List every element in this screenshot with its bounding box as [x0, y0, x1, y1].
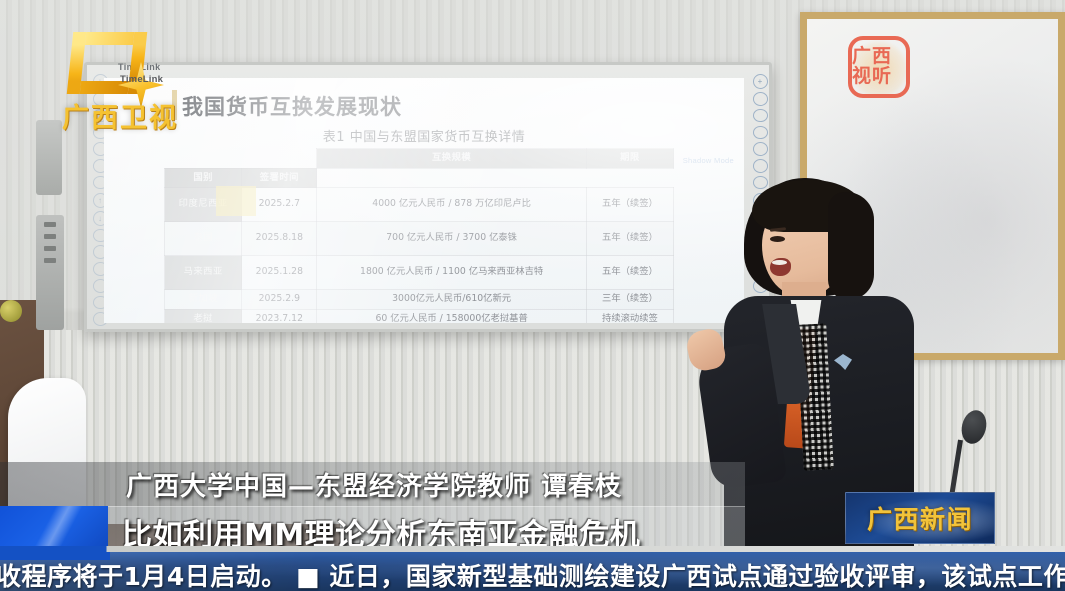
table-subheader-row: 国别 签署时间 [165, 168, 674, 188]
cell-term: 五年（续签） [586, 222, 673, 256]
news-program-badge: 广西新闻 [845, 492, 995, 544]
cell-country: 马来西亚 [165, 256, 242, 290]
table-row: 新加坡 2025.2.9 3000亿元人民币/610亿新元 三年（续签） [165, 290, 674, 310]
window-icon[interactable] [753, 109, 768, 123]
cell-country: 老挝 [165, 309, 242, 323]
guangxi-shiting-seal-icon: 广西视听 [848, 36, 910, 98]
subheader-scale-spacer [317, 168, 587, 188]
table-row: 泰国 2025.8.18 700 亿元人民币 / 3700 亿泰铢 五年（续签） [165, 222, 674, 256]
cell-date: 2023.7.12 [242, 309, 317, 323]
news-ticker: 收程序将于1月4日启动。 ■ 近日，国家新型基础测绘建设广西试点通过验收评审，该… [0, 552, 1065, 591]
currency-swap-table: 互换规模 期限 国别 签署时间 印度尼西亚 2025.2.7 4000 亿元人民 [164, 148, 674, 323]
cell-country: 新加坡 [165, 290, 242, 310]
lower-third: 广西大学中国—东盟经济学院教师 谭春枝 比如利用MM理论分析东南亚金融危机 [0, 462, 745, 554]
header-date-spacer [242, 149, 317, 169]
home-icon[interactable] [753, 92, 768, 106]
cell-date: 2025.2.9 [242, 290, 317, 310]
slide-content: 我国货币互换发展现状 表1 中国与东盟国家货币互换详情 Shadow Mode … [104, 78, 744, 323]
control-button[interactable] [44, 222, 56, 227]
speaker-title: 广西大学中国—东盟经济学院教师 谭春枝 [126, 466, 622, 503]
table-row: 老挝 2023.7.12 60 亿元人民币 / 158000亿老挝基普 持续滚动… [165, 309, 674, 323]
smartboard-brand-overlay: TimeLink [120, 74, 163, 85]
eye [770, 236, 785, 242]
column-header-country: 国别 [165, 168, 242, 188]
cell-term: 五年（续签） [586, 256, 673, 290]
shadow-mode-label: Shadow Mode [683, 156, 734, 165]
sticky-note [216, 186, 256, 216]
mouth-open [770, 258, 791, 276]
board-control-strip-lower[interactable] [36, 215, 64, 330]
board-control-strip-upper[interactable] [36, 120, 62, 195]
table-header-row: 互换规模 期限 [165, 149, 674, 169]
column-header-date: 签署时间 [242, 168, 317, 188]
column-header-scale: 互换规模 [317, 149, 587, 169]
cell-country: 泰国 [165, 222, 242, 256]
cell-scale: 4000 亿元人民币 / 878 万亿印尼卢比 [317, 188, 587, 222]
cell-scale: 3000亿元人民币/610亿新元 [317, 290, 587, 310]
download-icon[interactable] [753, 126, 768, 140]
cell-term: 持续滚动续签 [586, 309, 673, 323]
plus-icon[interactable]: + [753, 74, 768, 89]
cell-scale: 1800 亿元人民币 / 1100 亿马来西亚林吉特 [317, 256, 587, 290]
subheader-term-spacer [586, 168, 673, 188]
broadcast-frame: 广西视听 TimeLink + ↑ ↓ + ↑ ↓ [0, 0, 1065, 591]
projected-slide: 我国货币互换发展现状 表1 中国与东盟国家货币互换详情 Shadow Mode … [104, 78, 744, 323]
table-caption: 表1 中国与东盟国家货币互换详情 [104, 126, 744, 145]
hair-side [828, 192, 874, 300]
slide-title: 我国货币互换发展现状 [182, 91, 402, 121]
control-button[interactable] [44, 258, 56, 263]
table-row: 马来西亚 2025.1.28 1800 亿元人民币 / 1100 亿马来西亚林吉… [165, 256, 674, 290]
cell-term: 三年（续签） [586, 290, 673, 310]
news-program-name: 广西新闻 [867, 500, 973, 536]
channel-logo: TimeLink 广西卫视 [62, 28, 182, 138]
table-head: 互换规模 期限 国别 签署时间 [165, 149, 674, 188]
pen-icon[interactable] [753, 159, 768, 173]
cell-date: 2025.1.28 [242, 256, 317, 290]
channel-name: 广西卫视 [62, 96, 178, 135]
cell-scale: 60 亿元人民币 / 158000亿老挝基普 [317, 309, 587, 323]
panel-icon[interactable] [753, 142, 768, 156]
cell-term: 五年（续签） [586, 188, 673, 222]
ticker-text: 收程序将于1月4日启动。 ■ 近日，国家新型基础测绘建设广西试点通过验收评审，该… [0, 557, 1065, 591]
cell-scale: 700 亿元人民币 / 3700 亿泰铢 [317, 222, 587, 256]
seal-line: 广西视听 [852, 47, 906, 87]
control-button[interactable] [44, 234, 56, 239]
header-country-spacer [165, 149, 242, 169]
wall-knob [0, 300, 22, 322]
cell-date: 2025.8.18 [242, 222, 317, 256]
column-header-term: 期限 [586, 149, 673, 169]
control-button[interactable] [44, 246, 56, 251]
